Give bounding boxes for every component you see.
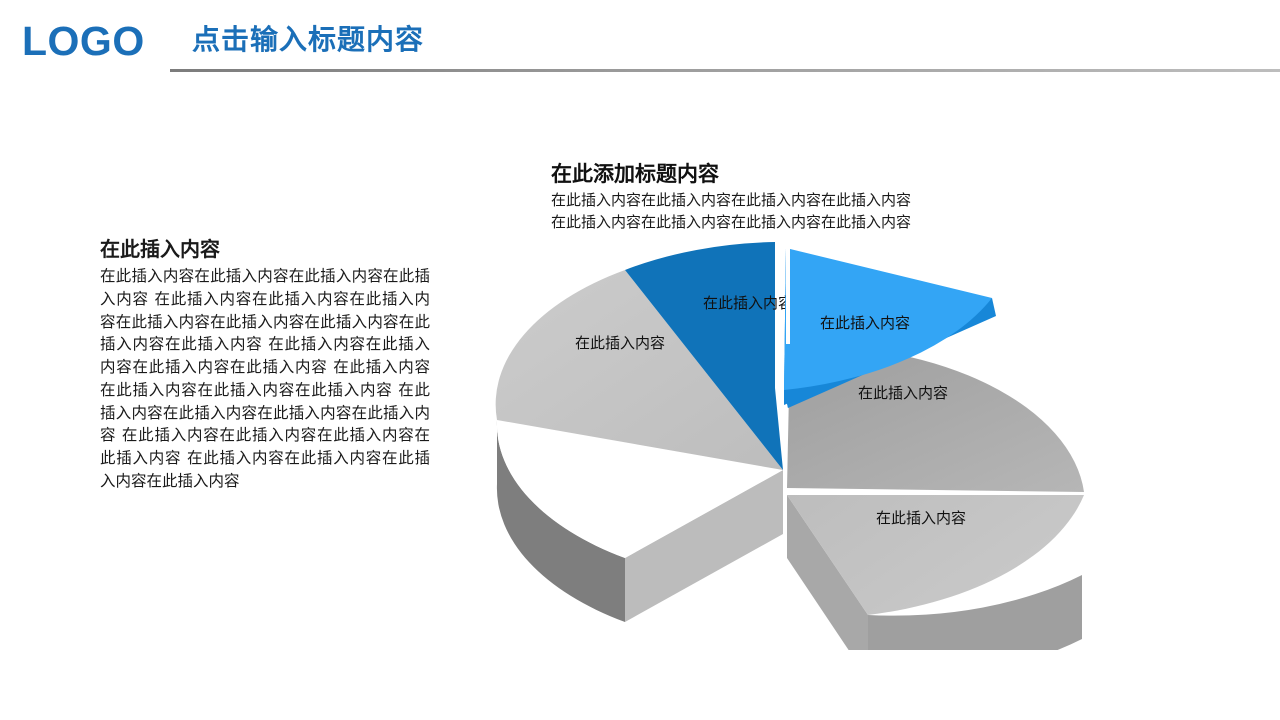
left-text-panel: 在此插入内容 在此插入内容在此插入内容在此插入内容在此插入内容 在此插入内容在此… <box>100 236 430 493</box>
slice-label-gray-right: 在此插入内容 <box>858 384 948 402</box>
logo: LOGO <box>22 21 145 62</box>
slice-label-lower-right: 在此插入内容 <box>876 509 966 527</box>
left-panel-body: 在此插入内容在此插入内容在此插入内容在此插入内容 在此插入内容在此插入内容在此插… <box>100 265 430 493</box>
pie-chart-svg: 在此插入内容 在此插入内容 在此插入内容 在此插入内容 在此插入内容 <box>490 240 1220 650</box>
slice-label-upper-left: 在此插入内容 <box>575 334 665 352</box>
right-panel-body-line-1: 在此插入内容在此插入内容在此插入内容在此插入内容 <box>551 190 1071 212</box>
right-panel-body-line-2: 在此插入内容在此插入内容在此插入内容在此插入内容 <box>551 212 1071 234</box>
right-panel-title: 在此添加标题内容 <box>551 160 1071 188</box>
left-panel-title: 在此插入内容 <box>100 236 430 262</box>
header-divider <box>170 69 1280 72</box>
page-header: LOGO 点击输入标题内容 <box>0 0 1280 80</box>
page-title: 点击输入标题内容 <box>192 26 424 54</box>
slice-label-dark-blue: 在此插入内容 <box>703 294 793 312</box>
slice-separator-gap <box>786 246 790 344</box>
right-text-panel: 在此添加标题内容 在此插入内容在此插入内容在此插入内容在此插入内容 在此插入内容… <box>551 160 1071 234</box>
slice-label-bright-blue: 在此插入内容 <box>820 314 910 332</box>
pie-chart-3d: 在此插入内容 在此插入内容 在此插入内容 在此插入内容 在此插入内容 <box>490 240 1220 650</box>
right-panel-body: 在此插入内容在此插入内容在此插入内容在此插入内容 在此插入内容在此插入内容在此插… <box>551 190 1071 234</box>
